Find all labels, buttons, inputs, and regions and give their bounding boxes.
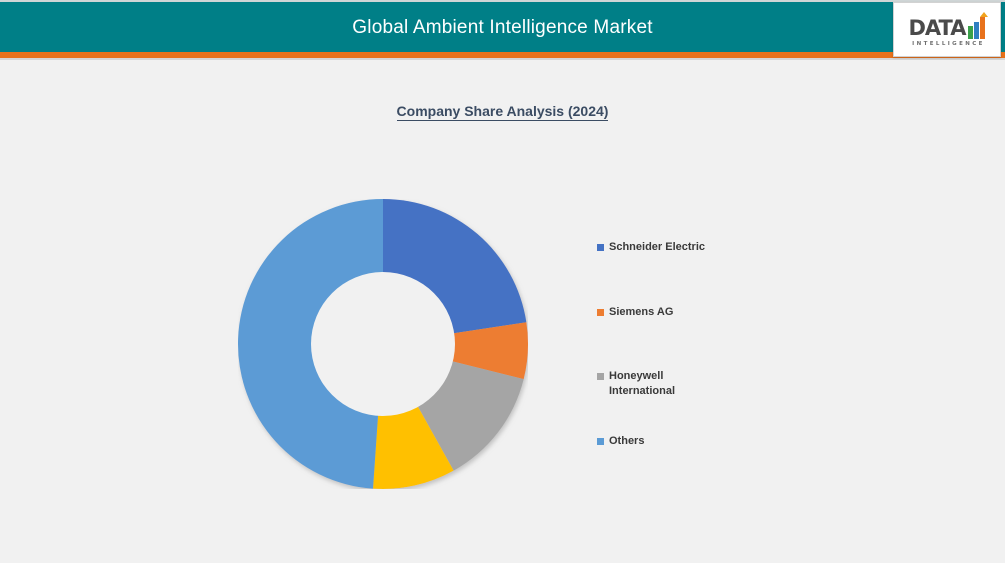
- data-intelligence-logo: DATA INTELLIGENCE: [893, 2, 1001, 57]
- chart-legend: Schneider ElectricSiemens AGHoneywell In…: [597, 240, 817, 498]
- legend-swatch-icon: [597, 309, 604, 316]
- legend-item-label: Honeywell International: [609, 369, 675, 398]
- page-title: Global Ambient Intelligence Market: [0, 2, 1005, 54]
- donut-chart-svg: [238, 199, 528, 489]
- logo-wordmark-row: DATA: [908, 13, 985, 39]
- legend-item[interactable]: Siemens AG: [597, 305, 817, 370]
- chart-title: Company Share Analysis (2024): [0, 103, 1005, 119]
- donut-hole: [311, 272, 455, 416]
- header-divider: [0, 58, 1005, 60]
- legend-item-label: Schneider Electric: [609, 240, 705, 255]
- logo-wordmark-text: DATA: [908, 18, 965, 39]
- legend-swatch-icon: [597, 438, 604, 445]
- donut-chart: [238, 199, 528, 489]
- logo-bar-chart-icon: [968, 16, 986, 39]
- chart-title-text: Company Share Analysis (2024): [397, 103, 609, 121]
- logo-arrow-icon: [980, 12, 988, 17]
- legend-item-label: Siemens AG: [609, 305, 673, 320]
- logo-subtitle-text: INTELLIGENCE: [909, 41, 985, 47]
- legend-item[interactable]: Others: [597, 434, 817, 499]
- legend-item-label: Others: [609, 434, 644, 449]
- legend-item[interactable]: Schneider Electric: [597, 240, 817, 305]
- legend-swatch-icon: [597, 373, 604, 380]
- legend-item[interactable]: Honeywell International: [597, 369, 817, 434]
- legend-swatch-icon: [597, 244, 604, 251]
- header-bar: Global Ambient Intelligence Market: [0, 0, 1005, 52]
